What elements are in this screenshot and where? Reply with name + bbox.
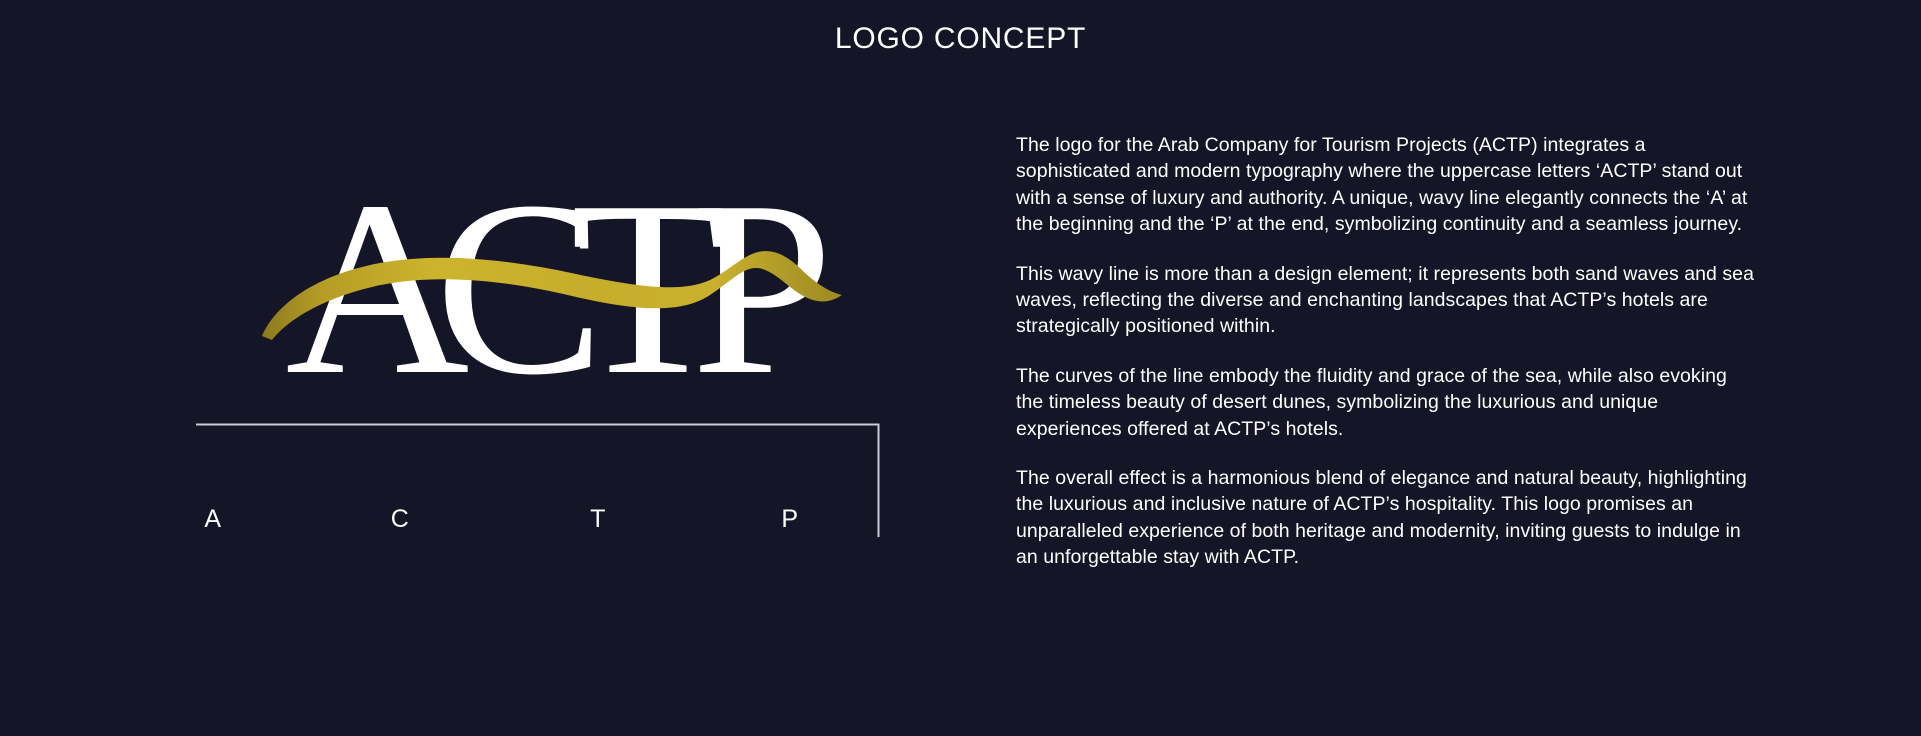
description-paragraph-2: This wavy line is more than a design ele…	[1016, 261, 1756, 340]
description-paragraph-1: The logo for the Arab Company for Touris…	[1016, 132, 1756, 238]
description-paragraph-4: The overall effect is a harmonious blend…	[1016, 465, 1756, 571]
logo-mark-actp: ACTP	[190, 140, 890, 390]
letter-label-a: A	[204, 505, 221, 534]
letter-label-t: T	[590, 505, 606, 534]
description-panel: The logo for the Arab Company for Touris…	[1016, 132, 1756, 571]
letter-label-p: P	[781, 505, 798, 534]
description-paragraph-3: The curves of the line embody the fluidi…	[1016, 363, 1756, 442]
letter-spacing-labels: A C T P	[196, 505, 880, 545]
letter-label-c: C	[391, 505, 410, 534]
logo-panel: ACTP A C T P	[0, 0, 960, 736]
